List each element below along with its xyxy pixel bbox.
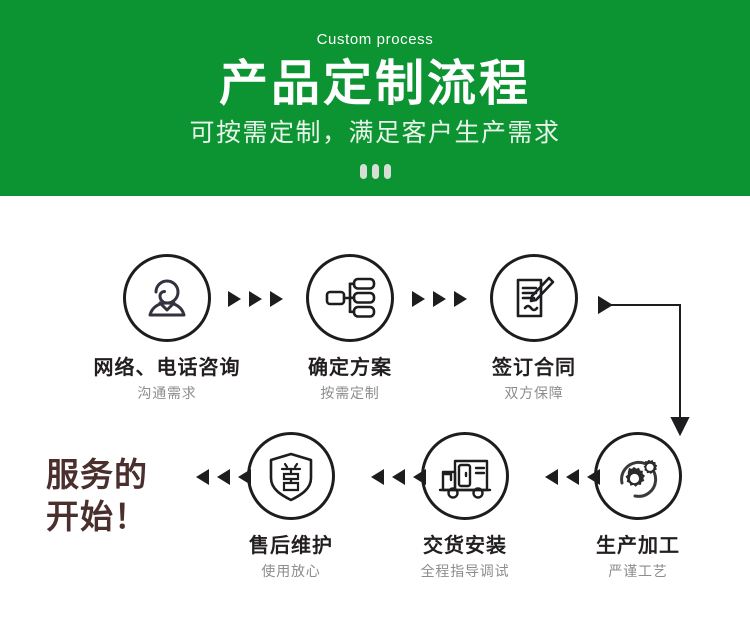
step-subtitle: 严谨工艺 [553,564,723,579]
step-icon-circle [594,432,682,520]
step-subtitle: 按需定制 [265,386,435,401]
triangle-right-icon [228,291,241,307]
triangle-left-icon [238,469,251,485]
delivery-truck-icon [435,446,495,506]
step-icon-circle [421,432,509,520]
flow-step-contract[interactable]: 签订合同 双方保障 [449,254,619,401]
arrow-aftersale-to-start [196,469,251,485]
header-tagline: 可按需定制，满足客户生产需求 [189,120,560,148]
triangle-right-icon [433,291,446,307]
triangle-right-icon [249,291,262,307]
flow-step-plan[interactable]: 确定方案 按需定制 [265,254,435,401]
step-icon-circle [247,432,335,520]
arrow-production-to-delivery [545,469,600,485]
arrow-delivery-to-aftersale [371,469,426,485]
flow-step-aftersale[interactable]: 售后维护 使用放心 [206,432,376,579]
gears-icon [609,447,667,505]
step-icon-circle [123,254,211,342]
org-chart-icon [321,269,379,327]
step-title: 确定方案 [265,357,435,379]
step-title: 售后维护 [206,535,376,557]
service-start-callout: 服务的 开始！ [46,454,148,538]
step-subtitle: 双方保障 [449,386,619,401]
flow-step-consult[interactable]: 网络、电话咨询 沟通需求 [82,254,252,401]
step-title: 签订合同 [449,357,619,379]
connector-contract-to-production [598,292,698,438]
step-subtitle: 全程指导调试 [380,564,550,579]
triangle-left-icon [217,469,230,485]
flow-step-production[interactable]: 生产加工 严谨工艺 [553,432,723,579]
step-icon-circle [490,254,578,342]
callout-line-2: 开始！ [46,496,148,538]
triangle-right-icon [412,291,425,307]
triangle-left-icon [566,469,579,485]
header-banner: Custom process 产品定制流程 可按需定制，满足客户生产需求 [0,0,750,196]
decoration-bar [360,164,367,179]
decoration-bar [384,164,391,179]
headset-person-icon [138,269,196,327]
triangle-left-icon [392,469,405,485]
step-icon-circle [306,254,394,342]
callout-line-1: 服务的 [46,456,148,493]
step-subtitle: 使用放心 [206,564,376,579]
header-decoration-bars [360,164,391,179]
shield-aftersale-icon [263,448,319,504]
page-title: 产品定制流程 [219,59,531,110]
triangle-left-icon [587,469,600,485]
header-eyebrow-text: Custom process [317,32,434,47]
contract-signing-icon [505,269,563,327]
step-title: 网络、电话咨询 [82,357,252,379]
flow-step-delivery[interactable]: 交货安装 全程指导调试 [380,432,550,579]
step-subtitle: 沟通需求 [82,386,252,401]
triangle-left-icon [196,469,209,485]
process-flow-diagram: 服务的 开始！ 网络、电话咨询 沟通需求 [0,196,750,634]
step-title: 生产加工 [553,535,723,557]
step-title: 交货安装 [380,535,550,557]
triangle-left-icon [413,469,426,485]
decoration-bar [372,164,379,179]
